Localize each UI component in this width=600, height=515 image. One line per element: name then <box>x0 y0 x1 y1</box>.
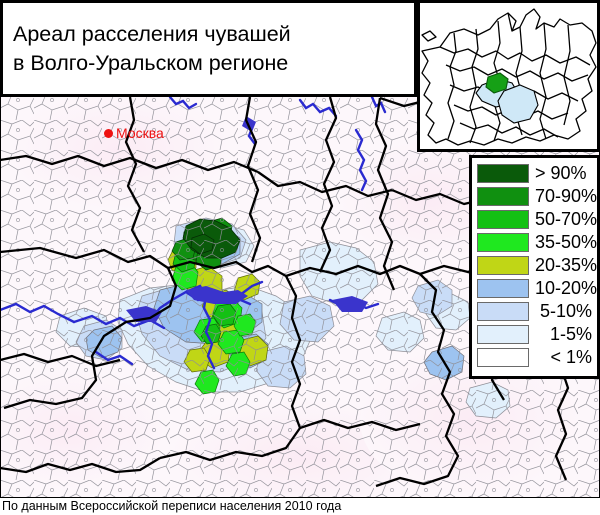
legend-label: 35-50% <box>535 233 597 252</box>
inset-vector-layer <box>420 3 597 149</box>
legend-swatch <box>477 302 529 321</box>
legend: > 90% 70-90% 50-70% 35-50% 20-35% 10-20%… <box>469 155 600 379</box>
legend-label: 50-70% <box>535 210 597 229</box>
legend-label: 20-35% <box>535 256 597 275</box>
legend-item: < 1% <box>477 346 594 369</box>
moscow-city-dot <box>104 129 113 138</box>
legend-item: 5-10% <box>477 300 594 323</box>
inset-locator-map[interactable] <box>417 0 600 152</box>
legend-item: 50-70% <box>477 208 594 231</box>
legend-label: < 1% <box>535 348 594 367</box>
inset-chuvashia-highlight <box>486 73 508 93</box>
legend-item: 20-35% <box>477 254 594 277</box>
legend-item: > 90% <box>477 162 594 185</box>
legend-swatch <box>477 279 529 298</box>
legend-label: 70-90% <box>535 187 597 206</box>
legend-swatch <box>477 325 529 344</box>
legend-item: 10-20% <box>477 277 594 300</box>
legend-label: 10-20% <box>535 279 597 298</box>
legend-swatch <box>477 164 529 183</box>
legend-item: 70-90% <box>477 185 594 208</box>
legend-item: 35-50% <box>477 231 594 254</box>
map-title-line-1: Ареал расселения чувашей <box>13 20 414 48</box>
map-title-line-2: в Волго-Уральском регионе <box>13 49 414 77</box>
legend-swatch <box>477 233 529 252</box>
legend-swatch <box>477 187 529 206</box>
legend-swatch <box>477 210 529 229</box>
legend-label: 5-10% <box>535 302 594 321</box>
title-block: Ареал расселения чувашей в Волго-Уральск… <box>0 0 417 97</box>
legend-swatch <box>477 348 529 367</box>
legend-item: 1-5% <box>477 323 594 346</box>
legend-label: > 90% <box>535 164 594 183</box>
source-caption: По данным Всероссийской переписи населен… <box>2 499 341 513</box>
map-screenshot: Москва Ареал расселения чувашей в Волго-… <box>0 0 600 515</box>
legend-swatch <box>477 256 529 275</box>
moscow-city-label: Москва <box>116 125 164 141</box>
legend-label: 1-5% <box>535 325 594 344</box>
